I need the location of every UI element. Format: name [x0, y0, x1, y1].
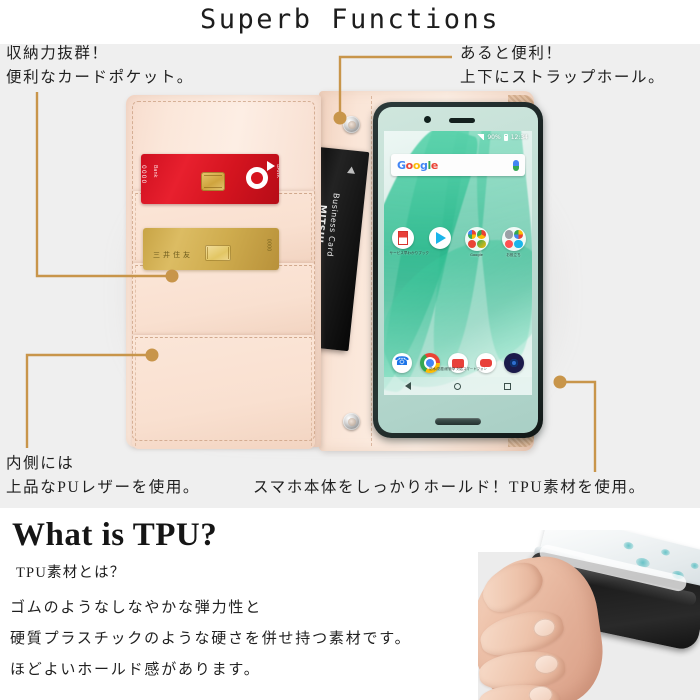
- pattern-speck: [690, 562, 699, 570]
- leader-line-strap-hole: [334, 57, 453, 125]
- callout-line-1: あると便利！: [460, 42, 665, 66]
- pattern-speck: [660, 548, 670, 556]
- tpu-flex-demo-photo: [478, 530, 700, 700]
- superb-functions-section: Superb Functions: [0, 0, 700, 508]
- leader-line-inside-leather: [27, 349, 159, 449]
- callout-strap-hole: あると便利！ 上下にストラップホール。: [460, 42, 665, 90]
- leader-line-card-pocket: [37, 92, 179, 283]
- what-is-tpu-section: What is TPU? TPU素材とは？ ゴムのようなしなやかな弾力性と 硬質…: [0, 508, 700, 700]
- tpu-body-line: 硬質プラスチックのような硬さを併せ持つ素材です。: [10, 627, 411, 648]
- pattern-speck: [623, 541, 634, 550]
- tpu-subheading: TPU素材とは？: [16, 561, 126, 582]
- callout-tpu-hold: スマホ本体をしっかりホールド！TPU素材を使用。: [253, 476, 646, 500]
- callout-line-2: 便利なカードポケット。: [6, 66, 194, 90]
- fingernail: [528, 686, 553, 700]
- callout-line-1: スマホ本体をしっかりホールド！TPU素材を使用。: [253, 476, 646, 500]
- callout-line-2: 上品なPUレザーを使用。: [6, 476, 200, 500]
- callout-line-1: 内側には: [6, 452, 200, 476]
- callout-line-1: 収納力抜群！: [6, 42, 194, 66]
- tpu-heading: What is TPU?: [12, 517, 217, 554]
- tpu-body-line: ゴムのようなしなやかな弾力性と: [10, 596, 262, 617]
- callout-inside-leather: 内側には 上品なPUレザーを使用。: [6, 452, 200, 500]
- tpu-body-line: ほどよいホールド感があります。: [10, 658, 261, 679]
- callout-line-2: 上下にストラップホール。: [460, 66, 665, 90]
- page-title: Superb Functions: [0, 4, 700, 35]
- callout-card-pocket: 収納力抜群！ 便利なカードポケット。: [6, 42, 194, 90]
- leader-line-tpu-hold: [554, 376, 596, 473]
